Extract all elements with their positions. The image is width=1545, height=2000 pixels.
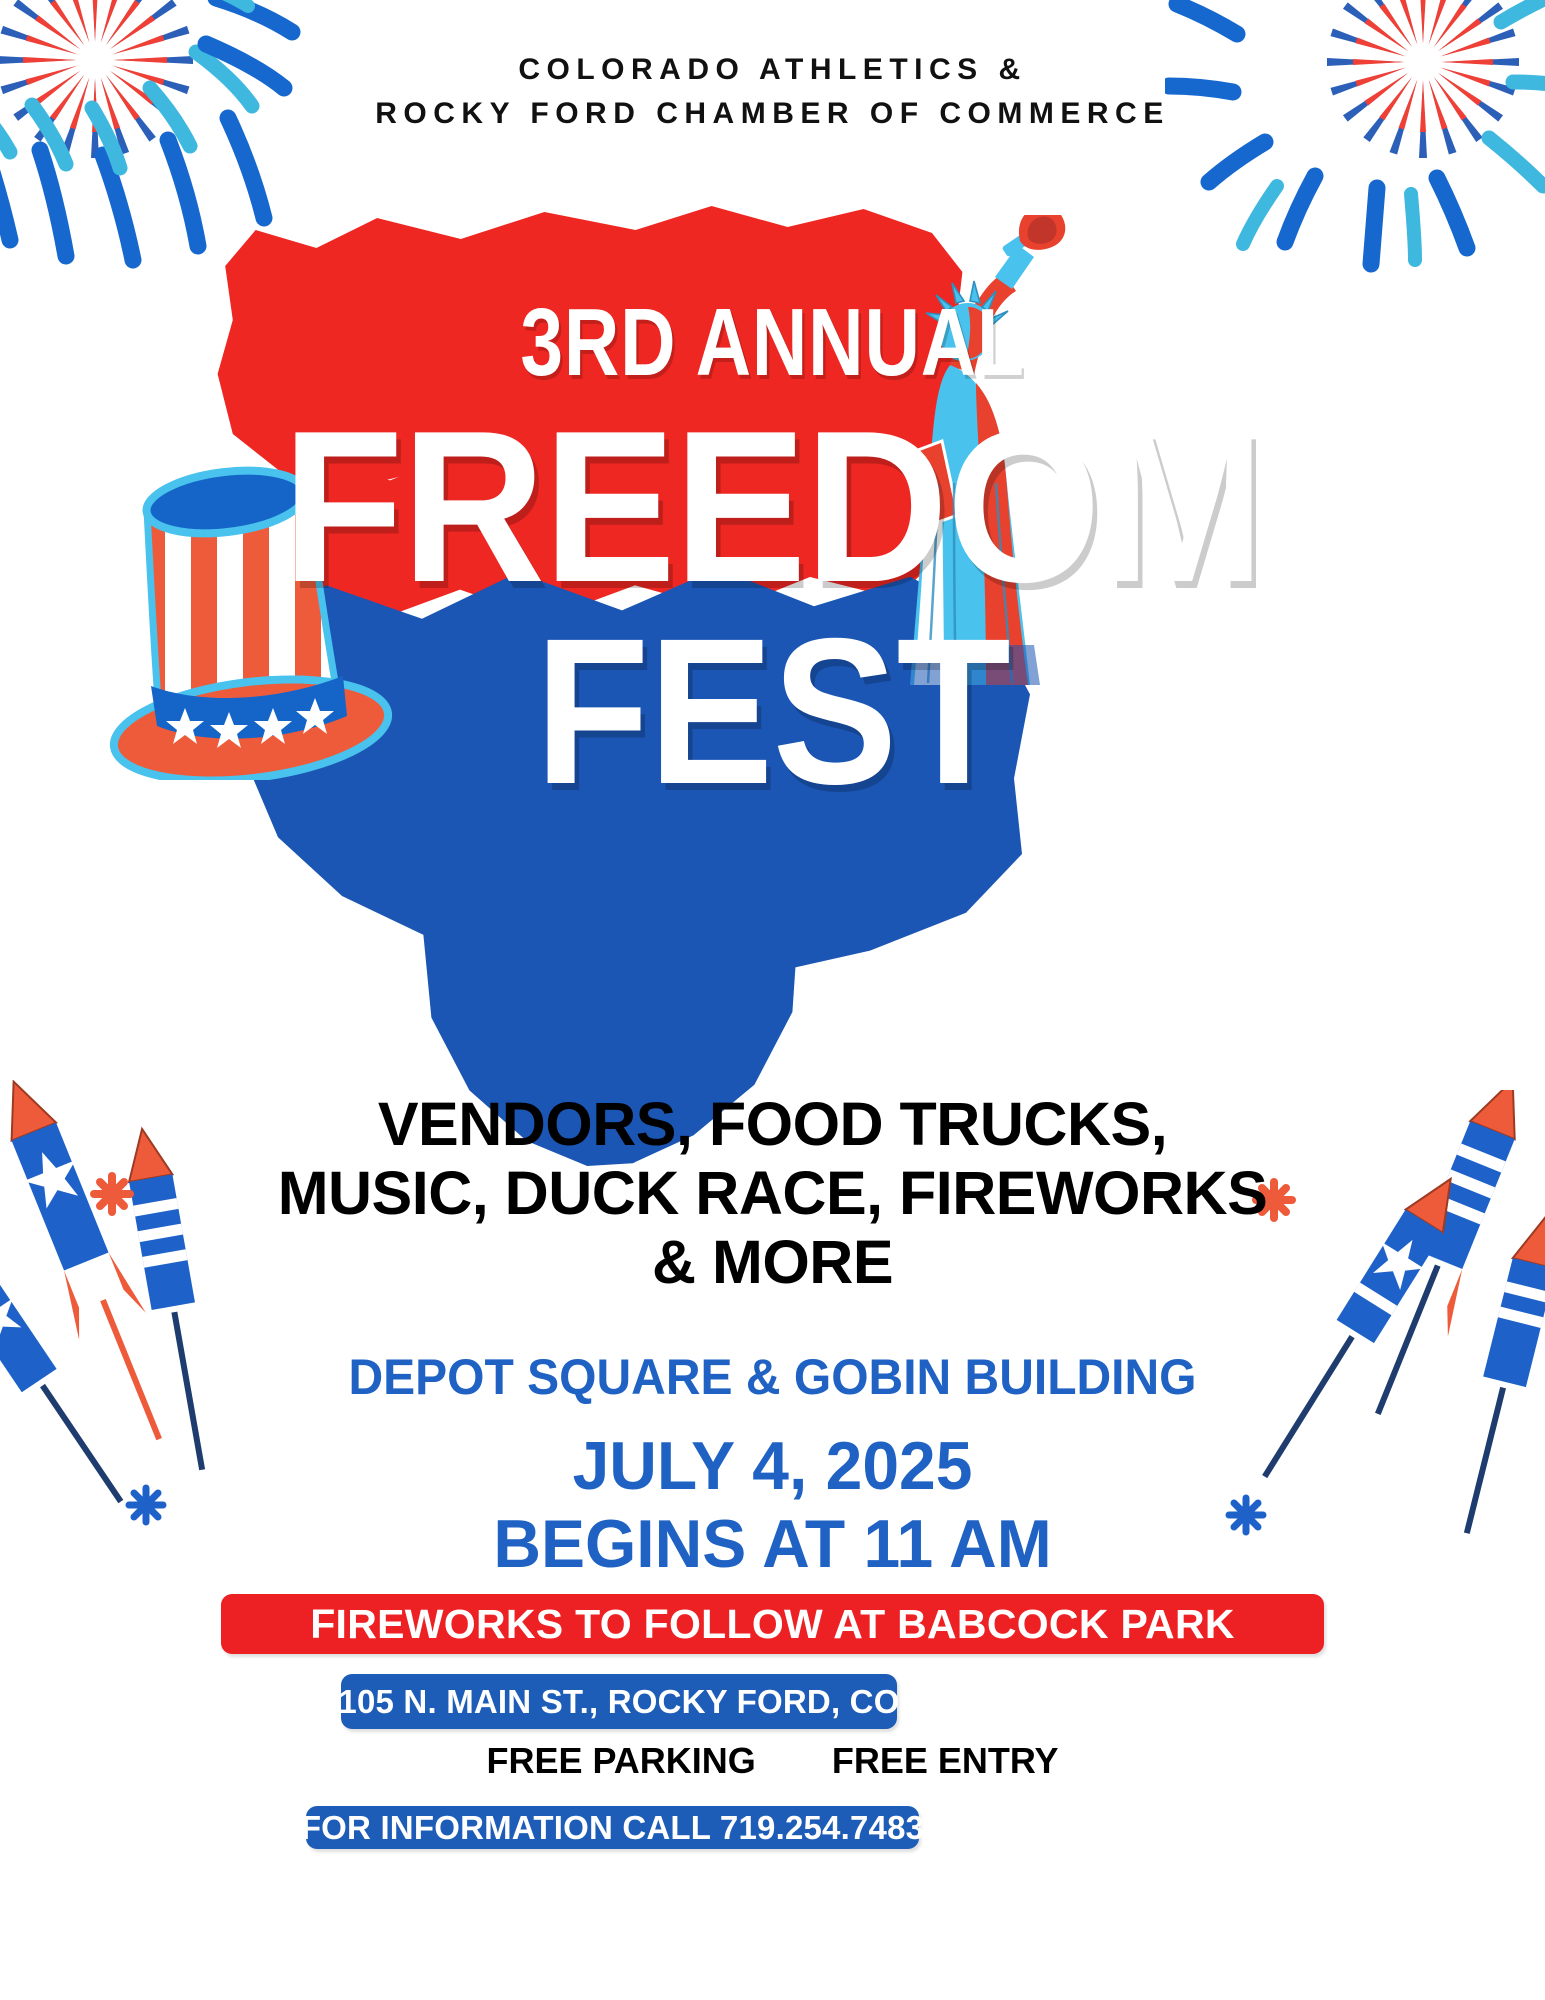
organizer-header: COLORADO ATHLETICS & ROCKY FORD CHAMBER … <box>0 48 1545 135</box>
features-line-3: & MORE <box>0 1228 1545 1297</box>
address-banner: 105 N. MAIN ST., ROCKY FORD, CO <box>341 1674 897 1729</box>
event-start-time: BEGINS AT 11 AM <box>23 1506 1522 1584</box>
freedom-fest-flyer: COLORADO ATHLETICS & ROCKY FORD CHAMBER … <box>0 0 1545 2000</box>
title-sub: FEST <box>77 608 1468 816</box>
event-date: JULY 4, 2025 <box>23 1428 1522 1506</box>
organizer-line-1: COLORADO ATHLETICS & <box>0 48 1545 92</box>
free-entry-label: FREE ENTRY <box>832 1740 1059 1782</box>
features-line-1: VENDORS, FOOD TRUCKS, <box>0 1090 1545 1159</box>
free-info-row: FREE PARKING FREE ENTRY <box>0 1740 1545 1782</box>
information-phone-banner: FOR INFORMATION CALL 719.254.7483 <box>306 1806 919 1849</box>
venue-location: DEPOT SQUARE & GOBIN BUILDING <box>31 1348 1514 1406</box>
event-date-block: JULY 4, 2025 BEGINS AT 11 AM <box>0 1428 1545 1583</box>
fireworks-burst-top-right-icon <box>1165 0 1545 310</box>
event-features: VENDORS, FOOD TRUCKS, MUSIC, DUCK RACE, … <box>0 1090 1545 1297</box>
organizer-line-2: ROCKY FORD CHAMBER OF COMMERCE <box>0 92 1545 136</box>
fireworks-banner: FIREWORKS TO FOLLOW AT BABCOCK PARK <box>221 1594 1324 1654</box>
title-main: FREEDOM <box>62 398 1483 614</box>
features-line-2: MUSIC, DUCK RACE, FIREWORKS <box>0 1159 1545 1228</box>
title-edition: 3RD ANNUAL <box>155 288 1391 398</box>
free-parking-label: FREE PARKING <box>486 1740 755 1782</box>
